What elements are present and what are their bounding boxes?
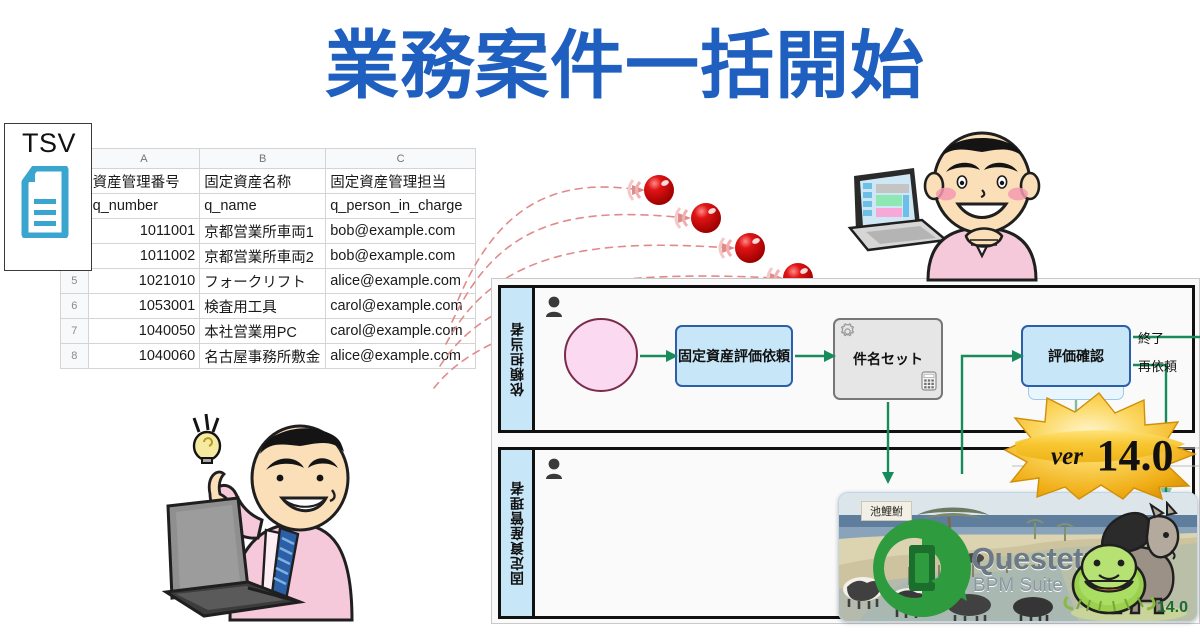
cell-b[interactable]: q_name <box>200 194 326 219</box>
person-icon <box>545 296 563 323</box>
cell-c[interactable]: q_person_in_charge <box>326 194 476 219</box>
table-row[interactable]: 1011001 京都営業所車両1 bob@example.com <box>61 219 476 244</box>
cell-c[interactable]: carol@example.com <box>326 319 476 344</box>
cell-c[interactable]: 固定資産管理担当 <box>326 169 476 194</box>
row-number[interactable]: 5 <box>61 269 89 294</box>
cell-c[interactable]: carol@example.com <box>326 294 476 319</box>
row-number[interactable]: 7 <box>61 319 89 344</box>
cell-c[interactable]: bob@example.com <box>326 219 476 244</box>
version-number: 14.0 <box>1097 431 1174 480</box>
cell-a[interactable]: 1053001 <box>88 294 200 319</box>
bpmn-start-event[interactable] <box>564 318 638 392</box>
lane-label: 固定資産管理者 <box>507 481 527 586</box>
gear-icon <box>839 323 856 343</box>
sheet-column-header-row: A B C <box>61 149 476 169</box>
questetra-version-number: 14.0 <box>1157 599 1188 616</box>
cell-b[interactable]: 本社営業用PC <box>200 319 326 344</box>
table-row[interactable]: 8 1040060 名古屋事務所敷金 alice@example.com <box>61 344 476 369</box>
column-header-c[interactable]: C <box>326 149 476 169</box>
questetra-brand-card: 池鯉鮒 Questetra BPM Suite <box>838 492 1198 622</box>
row-number[interactable]: 6 <box>61 294 89 319</box>
column-header-b[interactable]: B <box>200 149 326 169</box>
cell-b[interactable]: 検査用工具 <box>200 294 326 319</box>
cell-b[interactable]: 名古屋事務所敷金 <box>200 344 326 369</box>
version-badge: ver 14.0 <box>1003 392 1197 505</box>
version-prefix: ver <box>1051 443 1083 470</box>
calculator-icon <box>921 371 937 394</box>
tsv-file-badge[interactable]: TSV <box>4 123 92 271</box>
cell-a[interactable]: 1011002 <box>88 244 200 269</box>
arrow-head <box>722 243 735 253</box>
arrow-head <box>632 185 645 195</box>
column-header-a[interactable]: A <box>88 149 200 169</box>
tsv-spreadsheet[interactable]: A B C 資産管理番号 固定資産名称 固定資産管理担当 q_number q_… <box>60 148 476 369</box>
table-row[interactable]: 7 1040050 本社営業用PC carol@example.com <box>61 319 476 344</box>
row-number[interactable]: 8 <box>61 344 89 369</box>
person-icon <box>545 458 563 485</box>
task-label: 固定資産評価依頼 <box>677 346 791 366</box>
cell-c[interactable]: alice@example.com <box>326 344 476 369</box>
questetra-product-name: BPM Suite <box>973 575 1063 597</box>
lane-label: 依頼担当者 <box>507 322 527 397</box>
page-title: 業務案件一括開始 <box>325 22 885 110</box>
cell-a[interactable]: 1021010 <box>88 269 200 294</box>
table-row[interactable]: 5 1021010 フォークリフト alice@example.com <box>61 269 476 294</box>
questetra-logo-icon <box>863 509 981 622</box>
bpmn-task-asset-eval-request[interactable]: 固定資産評価依頼 <box>675 325 793 387</box>
cell-c[interactable]: bob@example.com <box>326 244 476 269</box>
cell-b[interactable]: 京都営業所車両1 <box>200 219 326 244</box>
cell-b[interactable]: 固定資産名称 <box>200 169 326 194</box>
cell-a[interactable]: 資産管理番号 <box>88 169 200 194</box>
lane-header: 固定資産管理者 <box>501 450 535 616</box>
flow-label-redo: 再依頼 <box>1138 356 1177 375</box>
tsv-badge-label: TSV <box>5 128 93 159</box>
cell-b[interactable]: 京都営業所車両2 <box>200 244 326 269</box>
bpmn-task-eval-confirm[interactable]: 評価確認 <box>1021 325 1131 387</box>
flying-ball <box>720 233 765 263</box>
person-with-idea-lightbulb <box>162 412 412 632</box>
task-label: 評価確認 <box>1023 346 1129 366</box>
lane-header: 依頼担当者 <box>501 288 535 430</box>
arrow-head <box>678 213 691 223</box>
table-row[interactable]: 1011002 京都営業所車両2 bob@example.com <box>61 244 476 269</box>
questetra-version-label: 14.0 <box>1157 599 1188 617</box>
table-row[interactable]: q_number q_name q_person_in_charge <box>61 194 476 219</box>
lightbulb-icon <box>194 414 220 463</box>
task-label: 件名セット <box>835 349 941 369</box>
cell-a[interactable]: 1011001 <box>88 219 200 244</box>
flying-ball <box>629 175 674 205</box>
cell-a[interactable]: 1040050 <box>88 319 200 344</box>
table-row[interactable]: 資産管理番号 固定資産名称 固定資産管理担当 <box>61 169 476 194</box>
cell-a[interactable]: q_number <box>88 194 200 219</box>
table-row[interactable]: 6 1053001 検査用工具 carol@example.com <box>61 294 476 319</box>
bpmn-task-set-subject[interactable]: 件名セット <box>833 318 943 400</box>
cell-c[interactable]: alice@example.com <box>326 269 476 294</box>
cell-b[interactable]: フォークリフト <box>200 269 326 294</box>
person-with-laptop-smiling <box>842 128 1042 288</box>
document-icon <box>21 166 77 243</box>
flying-ball <box>676 203 721 233</box>
slide-canvas: 業務案件一括開始 A B C 資産管理番号 固定資産名称 固定資産管理担当 q_… <box>0 0 1200 630</box>
cell-a[interactable]: 1040060 <box>88 344 200 369</box>
flow-label-end: 終了 <box>1138 328 1164 347</box>
